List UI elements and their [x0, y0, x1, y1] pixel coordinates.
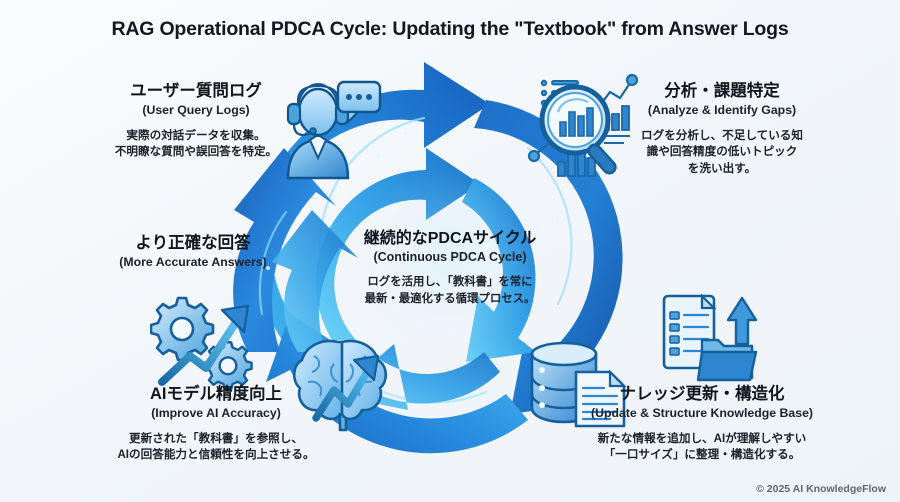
node-description: ログを分析し、不足している知 識や回答精度の低いトピック を洗い出す。 [606, 128, 838, 177]
node-title-en: (User Query Logs) [86, 103, 306, 119]
node-more-accurate-answers[interactable]: より正確な回答 (More Accurate Answers) [98, 234, 288, 271]
node-description: 実際の対話データを収集。 不明瞭な質問や誤回答を特定。 [86, 128, 306, 161]
page-title: RAG Operational PDCA Cycle: Updating the… [0, 18, 900, 41]
center-description: ログを活用し、「教科書」を常に 最新・最適化する循環プロセス。 [330, 274, 570, 307]
node-description: 更新された「教科書」を参照し、 AIの回答能力と信頼性を向上させる。 [96, 431, 336, 464]
node-desc-line-3: を洗い出す。 [606, 161, 838, 177]
node-user-query-logs[interactable]: ユーザー質問ログ (User Query Logs) 実際の対話データを収集。 … [86, 82, 306, 161]
node-improve-ai-accuracy[interactable]: AIモデル精度向上 (Improve AI Accuracy) 更新された「教科… [96, 385, 336, 464]
node-desc-line-1: 新たな情報を追加し、AIが理解しやすい [566, 431, 838, 447]
node-title-jp: ユーザー質問ログ [86, 82, 306, 102]
node-description: 新たな情報を追加し、AIが理解しやすい 「一口サイズ」に整理・構造化する。 [566, 431, 838, 464]
copyright-footer: © 2025 AI KnowledgeFlow [756, 483, 886, 495]
node-title-en: (More Accurate Answers) [98, 255, 288, 271]
node-title-jp: AIモデル精度向上 [96, 385, 336, 405]
center-desc-line-2: 最新・最適化する循環プロセス。 [330, 291, 570, 308]
node-desc-line-1: ログを分析し、不足している知 [606, 128, 838, 144]
node-title-en: (Improve AI Accuracy) [96, 406, 336, 422]
node-desc-line-2: 不明瞭な質問や誤回答を特定。 [86, 144, 306, 160]
node-desc-line-2: 識や回答精度の低いトピック [606, 144, 838, 160]
node-analyze-identify-gaps[interactable]: 分析・課題特定 (Analyze & Identify Gaps) ログを分析し… [606, 82, 838, 177]
node-desc-line-1: 実際の対話データを収集。 [86, 128, 306, 144]
center-title-en: (Continuous PDCA Cycle) [330, 250, 570, 264]
node-title-jp: ナレッジ更新・構造化 [566, 385, 838, 405]
node-title-en: (Update & Structure Knowledge Base) [566, 406, 838, 422]
node-title-en: (Analyze & Identify Gaps) [606, 103, 838, 119]
node-desc-line-2: AIの回答能力と信頼性を向上させる。 [96, 447, 336, 463]
gears-trend-icon [150, 294, 260, 394]
infographic-canvas: RAG Operational PDCA Cycle: Updating the… [0, 0, 900, 502]
document-folder-upload-icon [656, 288, 762, 386]
node-title-jp: 分析・課題特定 [606, 82, 838, 102]
node-title-jp: より正確な回答 [98, 234, 288, 254]
center-title-jp: 継続的なPDCAサイクル [330, 224, 570, 248]
node-desc-line-2: 「一口サイズ」に整理・構造化する。 [566, 447, 838, 463]
node-update-structure-knowledge-base[interactable]: ナレッジ更新・構造化 (Update & Structure Knowledge… [566, 385, 838, 464]
cycle-center-label: 継続的なPDCAサイクル (Continuous PDCA Cycle) ログを… [330, 224, 570, 307]
node-desc-line-1: 更新された「教科書」を参照し、 [96, 431, 336, 447]
center-desc-line-1: ログを活用し、「教科書」を常に [330, 274, 570, 291]
